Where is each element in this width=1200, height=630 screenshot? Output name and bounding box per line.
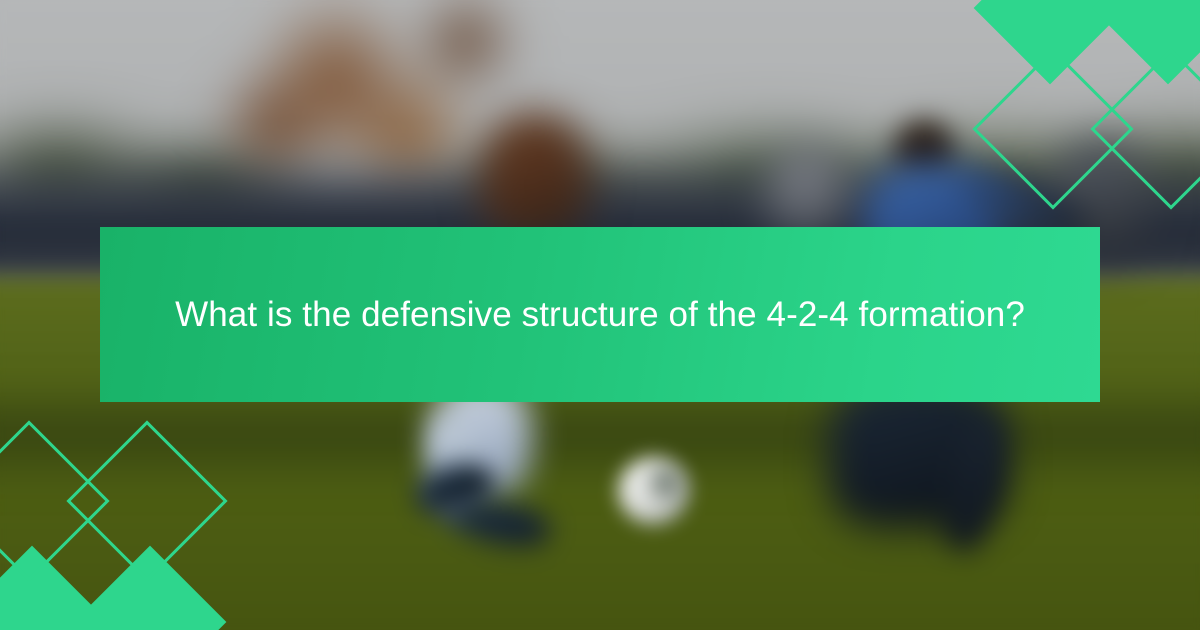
player-light-kit-torso [480, 113, 590, 243]
soccer-ball-patch [648, 466, 682, 500]
question-banner: What is the defensive structure of the 4… [100, 227, 1100, 402]
question-card: What is the defensive structure of the 4… [0, 0, 1200, 630]
question-text: What is the defensive structure of the 4… [175, 289, 1025, 341]
background-figure [768, 145, 848, 235]
